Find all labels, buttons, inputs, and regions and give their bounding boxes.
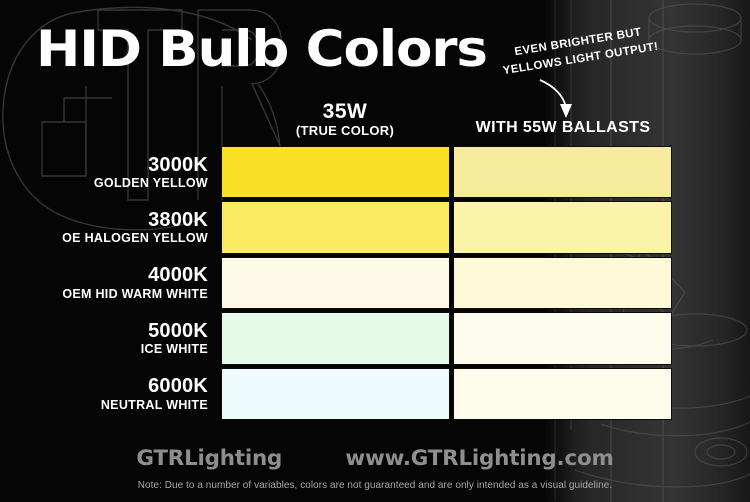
column-header-35w: 35W (TRUE COLOR) <box>255 101 435 139</box>
row-label-kelvin: 6000K <box>148 375 208 397</box>
color-swatch-table <box>221 146 672 420</box>
swatch-4000k-55w <box>453 257 672 309</box>
row-label-4000k: 4000K OEM HID WARM WHITE <box>8 257 214 309</box>
row-label-name: OEM HID WARM WHITE <box>62 287 208 302</box>
footer-disclaimer: Note: Due to a number of variables, colo… <box>0 480 750 491</box>
page-title: HID Bulb Colors <box>36 24 487 74</box>
table-row <box>221 201 672 253</box>
row-label-6000k: 6000K NEUTRAL WHITE <box>8 368 214 420</box>
row-label-kelvin: 3000K <box>148 154 208 176</box>
swatch-5000k-55w <box>453 312 672 364</box>
swatch-6000k-35w <box>221 368 450 420</box>
table-row <box>221 368 672 420</box>
row-label-name: ICE WHITE <box>141 342 208 357</box>
column-header-35w-subtitle: (TRUE COLOR) <box>255 123 435 139</box>
row-label-kelvin: 5000K <box>148 320 208 342</box>
swatch-3800k-55w <box>453 201 672 253</box>
hid-bulb-colors-poster: HID Bulb Colors 35W (TRUE COLOR) WITH 55… <box>0 0 750 502</box>
swatch-3000k-35w <box>221 146 450 198</box>
swatch-6000k-55w <box>453 368 672 420</box>
curved-down-arrow-icon <box>536 78 588 120</box>
footer-brand-name: GTRLighting <box>136 446 282 470</box>
swatch-3000k-55w <box>453 146 672 198</box>
row-label-3000k: 3000K GOLDEN YELLOW <box>8 146 214 198</box>
row-label-kelvin: 3800K <box>148 209 208 231</box>
footer-website[interactable]: www.GTRLighting.com <box>345 446 613 470</box>
row-label-column: 3000K GOLDEN YELLOW 3800K OE HALOGEN YEL… <box>8 146 214 420</box>
swatch-5000k-35w <box>221 312 450 364</box>
row-label-3800k: 3800K OE HALOGEN YELLOW <box>8 201 214 253</box>
row-label-kelvin: 4000K <box>148 264 208 286</box>
column-header-35w-value: 35W <box>255 101 435 123</box>
table-row <box>221 146 672 198</box>
table-row <box>221 257 672 309</box>
footer-brand-row: GTRLighting www.GTRLighting.com <box>0 446 750 470</box>
column-header-55w: WITH 55W BALLASTS <box>452 119 674 137</box>
row-label-name: NEUTRAL WHITE <box>101 398 208 413</box>
swatch-4000k-35w <box>221 257 450 309</box>
row-label-name: GOLDEN YELLOW <box>94 176 208 191</box>
swatch-3800k-35w <box>221 201 450 253</box>
row-label-name: OE HALOGEN YELLOW <box>62 231 208 246</box>
row-label-5000k: 5000K ICE WHITE <box>8 312 214 364</box>
table-row <box>221 312 672 364</box>
